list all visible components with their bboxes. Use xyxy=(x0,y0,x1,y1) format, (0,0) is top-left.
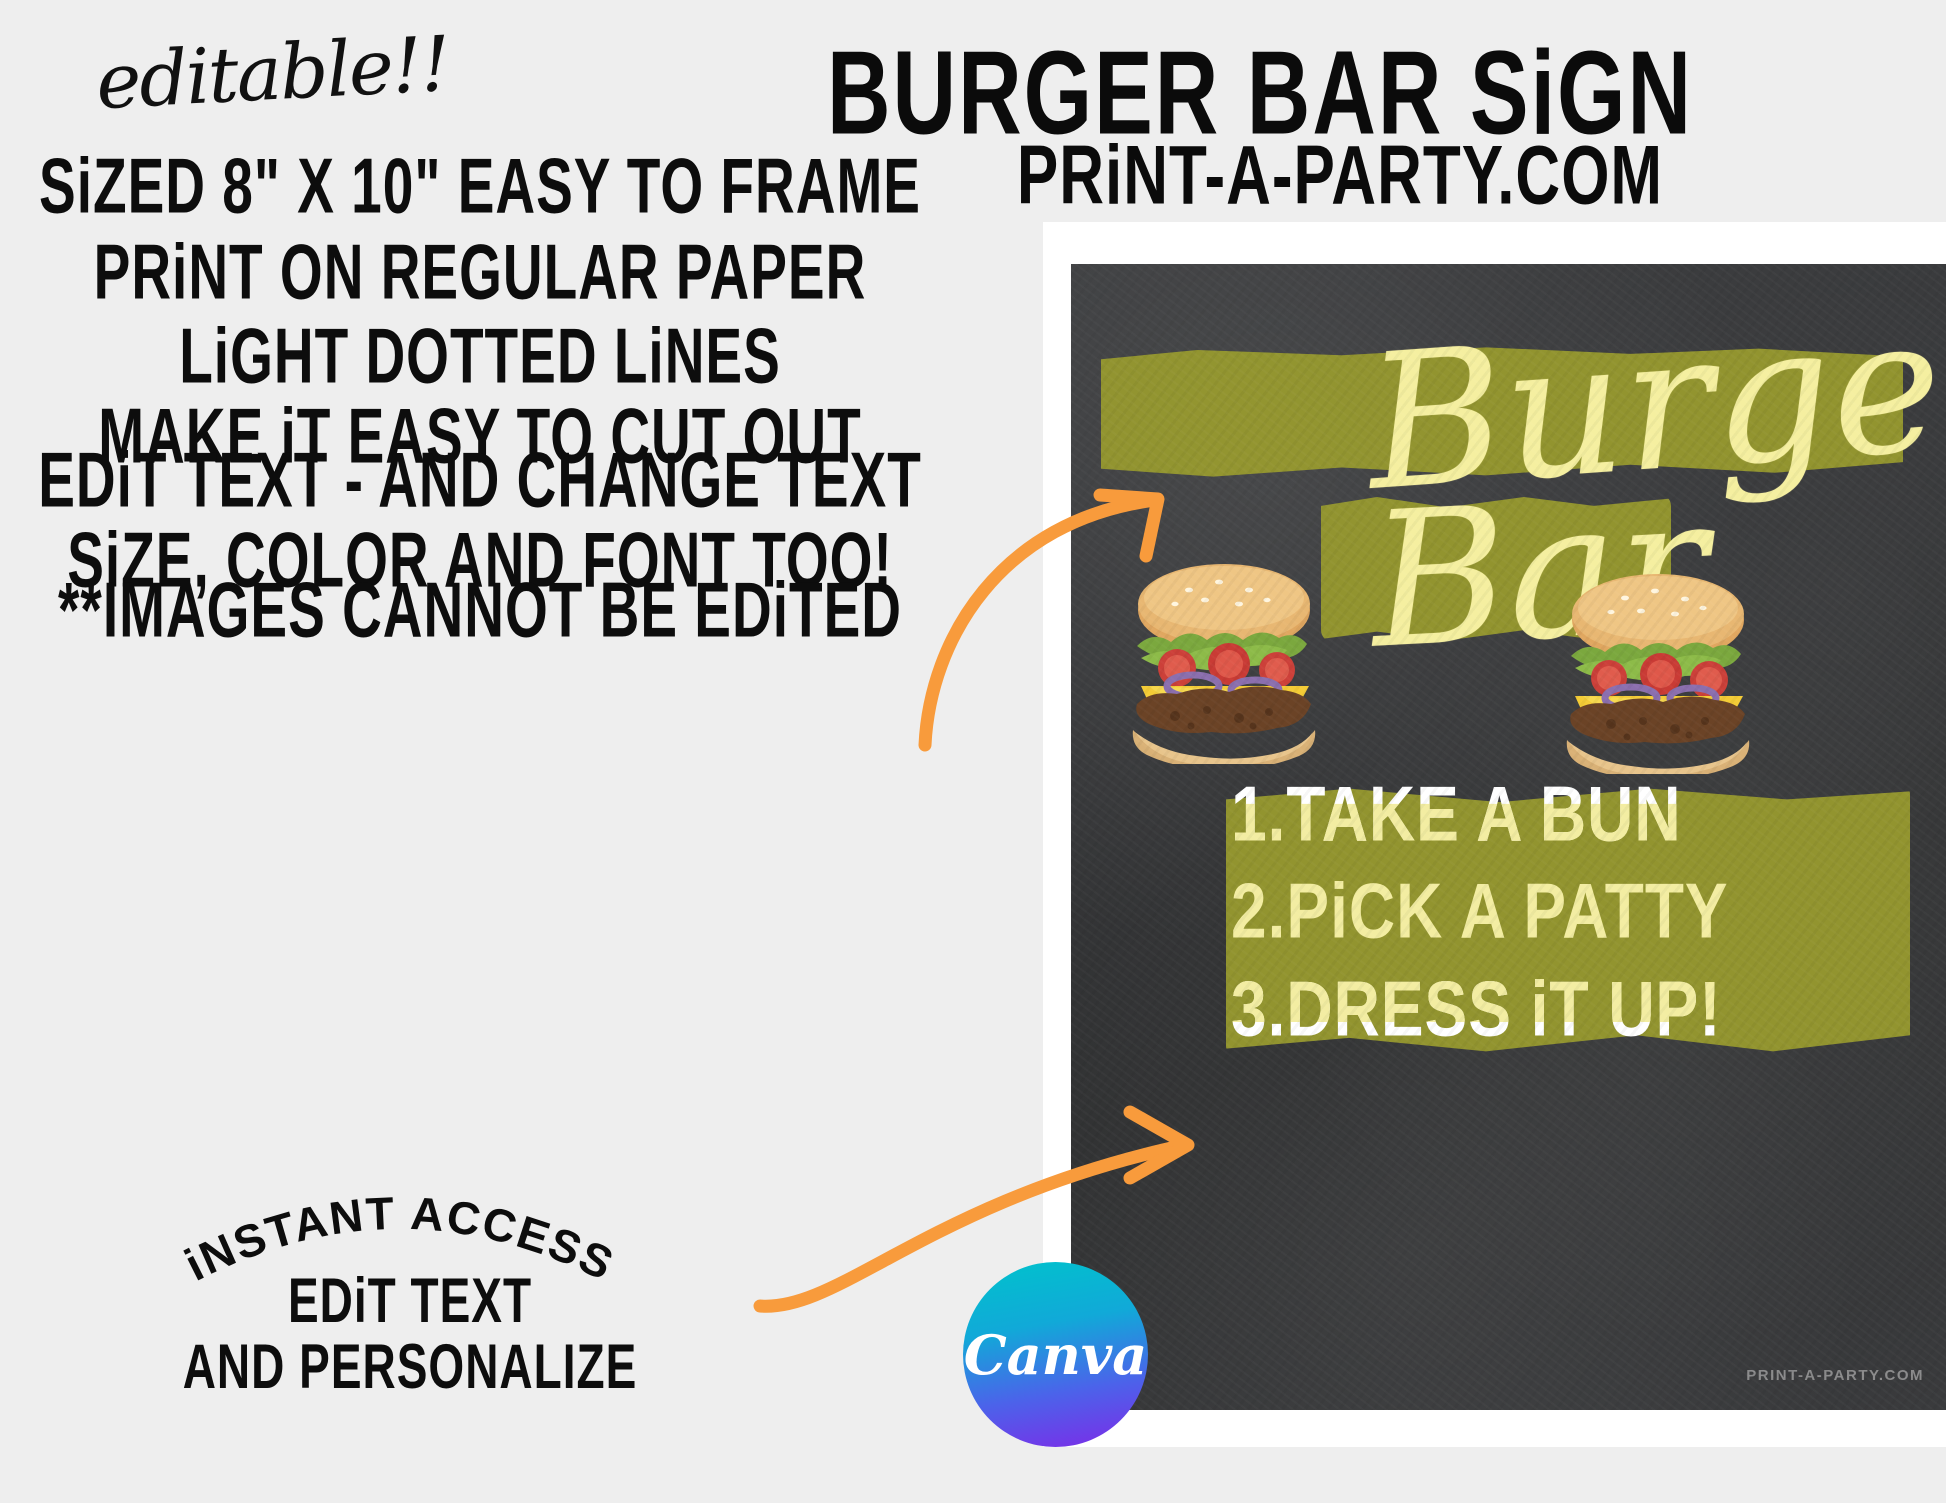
feature-line-2: PRiNT ON REGULAR PAPER xyxy=(0,232,960,312)
step-row-3: 3.DRESS iT UP! 3.DRESS iT UP! xyxy=(1231,971,1931,1048)
step-text: 2.PiCK A PATTY xyxy=(1231,867,1729,955)
chalkboard-background: Burger Bar xyxy=(1071,264,1946,1410)
feature-line-5: **IMAGES CANNOT BE EDiTED xyxy=(0,570,960,650)
callout-line-2: AND PERSONALIZE xyxy=(150,1334,670,1400)
site-url: PRiNT-A-PARTY.COM xyxy=(760,128,1920,224)
poster-steps-list: 1.TAKE A BUN 1.TAKE A BUN 2.PiCK A PATTY… xyxy=(1231,776,1931,1068)
burger-illustration-left xyxy=(1119,564,1329,764)
callout-sublines: EDiT TEXT AND PERSONALIZE xyxy=(150,1268,670,1400)
callout-line-1: EDiT TEXT xyxy=(150,1268,670,1334)
poster-watermark: PRINT-A-PARTY.COM xyxy=(1746,1367,1924,1384)
poster-preview: Burger Bar xyxy=(1043,222,1946,1447)
step-row-2: 2.PiCK A PATTY xyxy=(1231,873,1931,950)
promo-graphic: editable!! SiZED 8" X 10" EASY TO FRAME … xyxy=(0,0,1946,1503)
editable-badge: editable!! xyxy=(94,19,451,126)
feature-text: PRiNT ON REGULAR PAPER xyxy=(0,232,960,312)
burger-illustration-right xyxy=(1553,574,1763,774)
feature-text: LiGHT DOTTED LiNES xyxy=(0,316,960,396)
step-row-1: 1.TAKE A BUN 1.TAKE A BUN xyxy=(1231,776,1931,853)
feature-text: EDiT TEXT - AND CHANGE TEXT xyxy=(0,440,960,520)
feature-text: **IMAGES CANNOT BE EDiTED xyxy=(0,570,960,650)
canva-label: Canva xyxy=(964,1323,1148,1387)
canva-badge: Canva xyxy=(963,1262,1148,1447)
